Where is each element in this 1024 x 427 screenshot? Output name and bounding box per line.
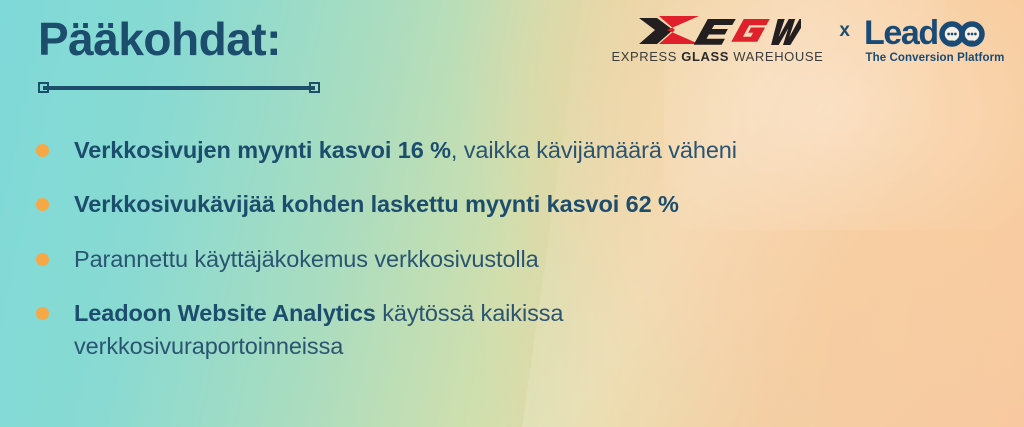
list-item: Parannettu käyttäjäkokemus verkkosivusto…	[36, 243, 986, 276]
bullet-text: Parannettu käyttäjäkokemus verkkosivusto…	[74, 243, 539, 276]
logo-bar: EXPRESS GLASS WAREHOUSE x Lead	[611, 14, 1006, 64]
egw-wordmark-part1: EXPRESS	[611, 49, 681, 64]
egw-wordmark-part2: WAREHOUSE	[729, 49, 823, 64]
egw-mark-icon	[633, 14, 801, 48]
list-item: Verkkosivukävijää kohden laskettu myynti…	[36, 188, 986, 221]
bullet-text-bold: Leadoon Website Analytics	[74, 300, 376, 326]
bullet-list: Verkkosivujen myynti kasvoi 16 %, vaikka…	[36, 134, 986, 385]
bullet-text: Verkkosivujen myynti kasvoi 16 %, vaikka…	[74, 134, 737, 167]
leadoo-tagline: The Conversion Platform	[865, 52, 1004, 64]
leadoo-logo: Lead	[864, 14, 1006, 64]
logo-separator-x: x	[839, 20, 850, 42]
title-divider	[38, 82, 320, 94]
bullet-text-bold: Verkkosivujen myynti kasvoi 16 %	[74, 137, 451, 163]
bullet-text: Leadoon Website Analytics käytössä kaiki…	[74, 297, 774, 364]
heading-block: Pääkohdat:	[38, 14, 320, 94]
divider-bar	[43, 86, 315, 90]
page-title: Pääkohdat:	[38, 14, 320, 65]
bullet-text: Verkkosivukävijää kohden laskettu myynti…	[74, 188, 679, 221]
egw-wordmark-bold: GLASS	[681, 49, 729, 64]
bullet-dot-icon	[36, 307, 49, 320]
bullet-dot-icon	[36, 198, 49, 211]
list-item: Leadoon Website Analytics käytössä kaiki…	[36, 297, 986, 364]
bullet-text-regular: , vaikka kävijämäärä väheni	[451, 137, 737, 163]
bullet-text-bold: Verkkosivukävijää kohden laskettu myynti…	[74, 191, 679, 217]
bullet-dot-icon	[36, 144, 49, 157]
svg-text:Lead: Lead	[864, 14, 938, 51]
egw-wordmark: EXPRESS GLASS WAREHOUSE	[611, 49, 823, 64]
slide-canvas: Pääkohdat: Verkkosivujen myynti kasvoi 1…	[0, 0, 1024, 427]
divider-cap-right-icon	[309, 82, 320, 93]
bullet-dot-icon	[36, 253, 49, 266]
egw-logo: EXPRESS GLASS WAREHOUSE	[611, 14, 823, 64]
bullet-text-regular: Parannettu käyttäjäkokemus verkkosivusto…	[74, 246, 539, 272]
list-item: Verkkosivujen myynti kasvoi 16 %, vaikka…	[36, 134, 986, 167]
leadoo-mark-icon: Lead	[864, 14, 1006, 51]
